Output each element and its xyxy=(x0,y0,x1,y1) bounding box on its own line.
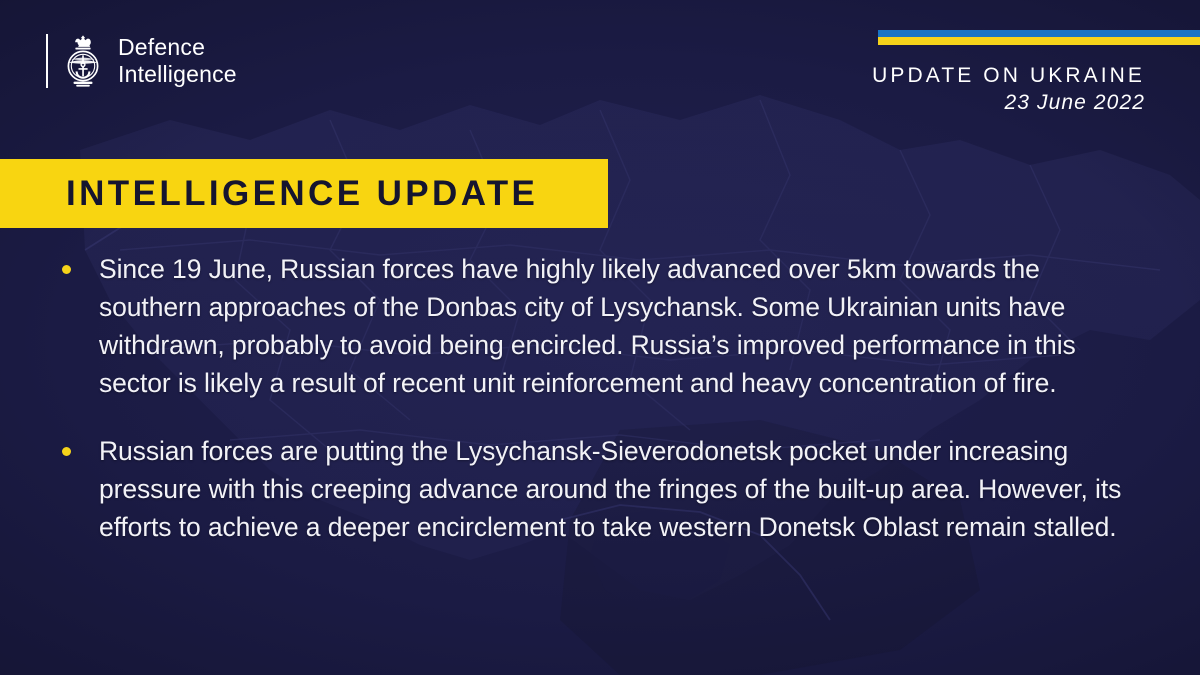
ukraine-flag-bar-icon xyxy=(878,30,1200,45)
bullet-list: Since 19 June, Russian forces have highl… xyxy=(62,250,1137,576)
flag-stripe-yellow xyxy=(878,37,1200,45)
intelligence-update-banner: INTELLIGENCE UPDATE xyxy=(0,159,608,228)
bullet-text: Russian forces are putting the Lysychans… xyxy=(99,432,1137,546)
bullet-dot-icon xyxy=(62,447,71,456)
banner-label: INTELLIGENCE UPDATE xyxy=(0,174,538,214)
bullet-dot-icon xyxy=(62,265,71,274)
update-date: 23 June 2022 xyxy=(720,88,1200,118)
flag-stripe-blue xyxy=(878,30,1200,37)
bullet-text: Since 19 June, Russian forces have highl… xyxy=(99,250,1137,402)
logo-line-one: Defence xyxy=(118,34,237,61)
list-item: Russian forces are putting the Lysychans… xyxy=(62,432,1137,546)
logo-divider-rule xyxy=(46,34,48,88)
intelligence-update-poster: Defence Intelligence UPDATE ON UKRAINE 2… xyxy=(0,0,1200,675)
defence-intelligence-crest-icon xyxy=(62,33,104,88)
logo-wordmark: Defence Intelligence xyxy=(118,34,237,88)
update-title: UPDATE ON UKRAINE xyxy=(720,63,1200,88)
logo-line-two: Intelligence xyxy=(118,61,237,88)
defence-intelligence-logo: Defence Intelligence xyxy=(46,33,237,88)
header-right-block: UPDATE ON UKRAINE 23 June 2022 xyxy=(720,30,1200,118)
list-item: Since 19 June, Russian forces have highl… xyxy=(62,250,1137,402)
